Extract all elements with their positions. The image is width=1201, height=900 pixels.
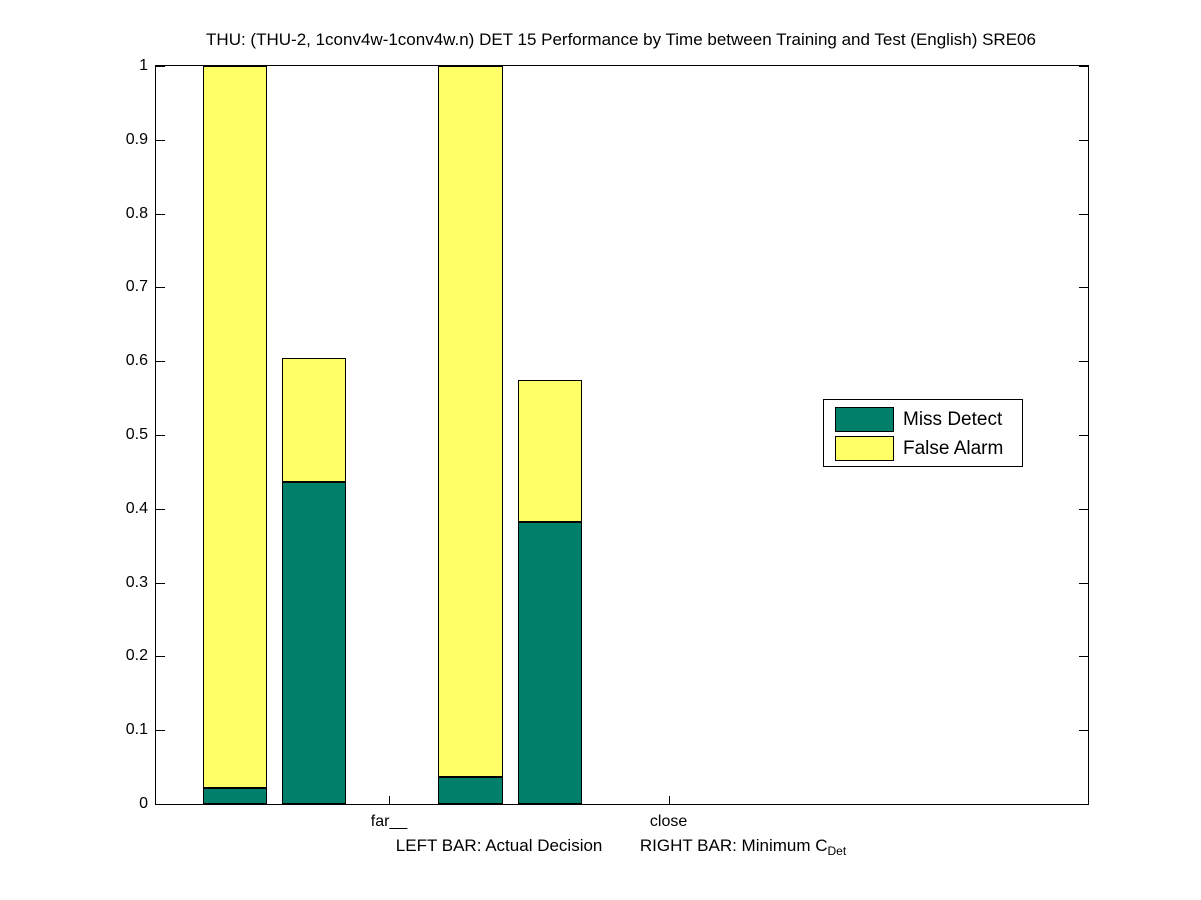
y-tick-label: 0.6 [126, 352, 148, 370]
x-tick-label: far__ [371, 813, 407, 831]
bar-segment-miss-detect [203, 788, 267, 804]
y-tick-label: 0.7 [126, 278, 148, 296]
y-tick-mark [156, 804, 165, 805]
legend-swatch-miss-detect [835, 407, 894, 432]
y-tick-mark [1079, 583, 1088, 584]
caption-left-bar: LEFT BAR: Actual Decision [396, 836, 603, 855]
y-tick-label: 0.3 [126, 574, 148, 592]
y-tick-mark [156, 656, 165, 657]
y-tick-mark [1079, 730, 1088, 731]
y-tick-mark [1079, 361, 1088, 362]
bar-far-actual [203, 66, 267, 804]
caption-right-bar-text: RIGHT BAR: Minimum C [640, 836, 828, 855]
y-tick-mark [156, 287, 165, 288]
y-tick-mark [1079, 287, 1088, 288]
bar-close-min [518, 66, 582, 804]
y-tick-mark [156, 66, 165, 67]
y-tick-label: 0 [139, 795, 148, 813]
y-tick-mark [156, 361, 165, 362]
y-tick-mark [1079, 66, 1088, 67]
legend-swatch-false-alarm [835, 436, 894, 461]
x-tick-mark [669, 796, 670, 804]
y-tick-mark [1079, 804, 1088, 805]
bar-segment-false-alarm [203, 66, 267, 788]
legend-label-miss-detect: Miss Detect [903, 410, 1002, 429]
x-tick-mark [389, 796, 390, 804]
bar-close-actual [438, 66, 502, 804]
y-tick-mark [156, 583, 165, 584]
bar-segment-miss-detect [282, 482, 346, 805]
y-tick-label: 0.1 [126, 721, 148, 739]
y-tick-label: 0.2 [126, 647, 148, 665]
y-tick-mark [156, 730, 165, 731]
y-tick-label: 0.5 [126, 426, 148, 444]
y-tick-label: 0.9 [126, 131, 148, 149]
y-tick-mark [1079, 140, 1088, 141]
legend: Miss Detect False Alarm [823, 399, 1023, 467]
caption-right-bar: RIGHT BAR: Minimum CDet [640, 836, 846, 855]
bar-far-min [282, 66, 346, 804]
figure-canvas: THU: (THU-2, 1conv4w-1conv4w.n) DET 15 P… [0, 0, 1201, 900]
legend-item-false-alarm: False Alarm [835, 435, 1003, 461]
y-tick-mark [1079, 509, 1088, 510]
y-tick-mark [1079, 214, 1088, 215]
bar-segment-miss-detect [438, 777, 502, 804]
x-tick-label: close [650, 813, 687, 831]
y-tick-mark [1079, 656, 1088, 657]
bar-segment-false-alarm [518, 380, 582, 522]
legend-label-false-alarm: False Alarm [903, 439, 1003, 458]
chart-title: THU: (THU-2, 1conv4w-1conv4w.n) DET 15 P… [155, 30, 1087, 50]
y-tick-label: 0.8 [126, 205, 148, 223]
y-tick-mark [156, 140, 165, 141]
y-tick-mark [156, 509, 165, 510]
bar-segment-false-alarm [438, 66, 502, 777]
y-tick-mark [1079, 435, 1088, 436]
bar-segment-miss-detect [518, 522, 582, 804]
y-tick-mark [156, 214, 165, 215]
y-tick-mark [156, 435, 165, 436]
legend-item-miss-detect: Miss Detect [835, 406, 1002, 432]
caption-right-bar-subscript: Det [828, 844, 847, 858]
y-tick-label: 0.4 [126, 500, 148, 518]
y-tick-label: 1 [139, 57, 148, 75]
bar-segment-false-alarm [282, 358, 346, 481]
figure-caption: LEFT BAR: Actual Decision RIGHT BAR: Min… [155, 836, 1087, 858]
